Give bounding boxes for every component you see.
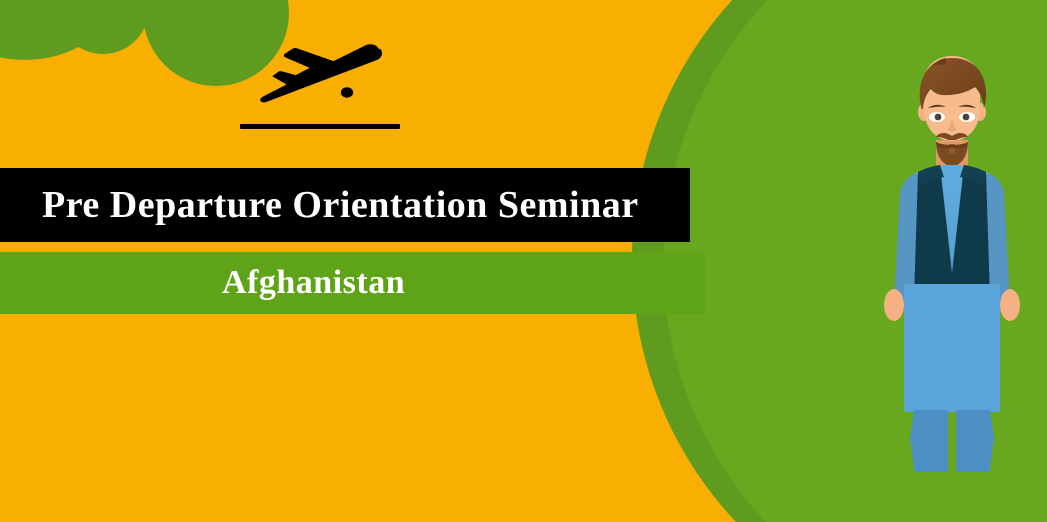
hand-right [1000,289,1020,321]
country-label: Afghanistan [222,264,405,302]
pupil-right [963,114,970,121]
title-band: Pre Departure Orientation Seminar [0,168,690,242]
pupil-left [935,114,942,121]
trouser-left [910,410,948,472]
airplane-takeoff-icon [237,42,383,114]
hand-left [884,289,904,321]
poster-canvas: Pre Departure Orientation Seminar Afghan… [0,0,1047,522]
runway-line [240,124,400,129]
kurta-skirt [904,284,1000,412]
trouser-right [956,410,994,472]
subtitle-band: Afghanistan [0,252,705,314]
afghan-man-illustration [852,52,1047,472]
page-title: Pre Departure Orientation Seminar [42,183,639,227]
airplane-graphic [237,42,407,134]
